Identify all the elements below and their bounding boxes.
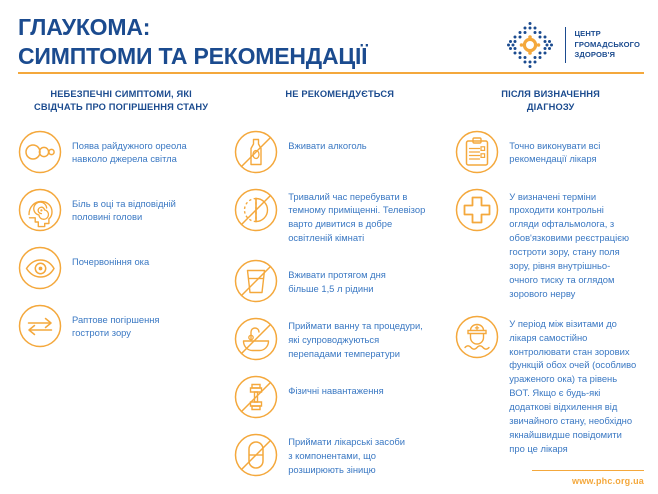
list-item: Фізичні навантаження [234,375,445,419]
list-item: Вживати протягом дня більше 1,5 л рідини [234,259,445,303]
column-heading-not-recommended: НЕ РЕКОМЕНДУЄТЬСЯ [234,88,445,116]
footer-divider [532,470,644,471]
no-pill-capsule-icon [234,433,278,477]
doctor-icon [455,315,499,359]
no-drinking-glass-icon [234,259,278,303]
website-url[interactable]: www.phc.org.ua [532,476,644,486]
list-item-label: Тривалий час перебувати в темному приміщ… [288,188,425,246]
phc-dot-circle-logo-icon [504,19,556,71]
list-item: Тривалий час перебувати в темному приміщ… [234,188,445,246]
page-footer: www.phc.org.ua [532,470,644,486]
clipboard-checklist-icon [455,130,499,174]
list-item-label: Біль в оці та відповідній половині голов… [72,188,176,225]
list-item: Точно виконувати всі рекомендації лікаря [455,130,646,174]
list-item: Біль в оці та відповідній половині голов… [18,188,224,232]
list-item-label: У період між візитами до лікаря самостій… [509,315,636,456]
list-item: Раптове погіршення гостроти зору [18,304,224,348]
head-pain-spiral-icon [18,188,62,232]
list-item-label: Приймати лікарські засоби з компонентами… [288,433,405,477]
list-item: Поява райдужного ореола навколо джерела … [18,130,224,174]
column-not-recommended: НЕ РЕКОМЕНДУЄТЬСЯ Вживати алкоголь [228,88,449,492]
list-item-label: Поява райдужного ореола навколо джерела … [72,130,187,167]
list-item: Приймати лікарські засоби з компонентами… [234,433,445,477]
column-after-diagnosis: ПІСЛЯ ВИЗНАЧЕННЯ ДІАГНОЗУ Точно виконува… [449,88,648,492]
list-item: Почервоніння ока [18,246,224,290]
list-item-label: Вживати протягом дня більше 1,5 л рідини [288,259,386,296]
list-item-label: Раптове погіршення гостроти зору [72,304,160,341]
list-item: У визначені терміни проходити контрольні… [455,188,646,301]
list-item-label: Фізичні навантаження [288,375,383,398]
page-title: ГЛАУКОМА: СИМПТОМИ ТА РЕКОМЕНДАЦІЇ [18,13,367,72]
page-header: ГЛАУКОМА: СИМПТОМИ ТА РЕКОМЕНДАЦІЇ [0,0,658,62]
list-item-label: Почервоніння ока [72,246,149,269]
column-heading-after-diagnosis: ПІСЛЯ ВИЗНАЧЕННЯ ДІАГНОЗУ [455,88,646,116]
column-heading-dangerous-symptoms: НЕБЕЗПЕЧНІ СИМПТОМИ, ЯКІ СВІДЧАТЬ ПРО ПО… [18,88,224,116]
medical-cross-icon [455,188,499,232]
no-dumbbell-icon [234,375,278,419]
list-item-label: Точно виконувати всі рекомендації лікаря [509,130,600,167]
no-bath-icon [234,317,278,361]
logo-text: ЦЕНТР ГРОМАДСЬКОГО ЗДОРОВ'Я [575,29,640,61]
rainbow-halo-circles-icon [18,130,62,174]
list-item: У період між візитами до лікаря самостій… [455,315,646,456]
no-alcohol-bottle-icon [234,130,278,174]
eye-icon [18,246,62,290]
no-dark-room-icon [234,188,278,232]
organization-logo: ЦЕНТР ГРОМАДСЬКОГО ЗДОРОВ'Я [504,19,640,71]
list-item-label: У визначені терміни проходити контрольні… [509,188,629,301]
content-columns: НЕБЕЗПЕЧНІ СИМПТОМИ, ЯКІ СВІДЧАТЬ ПРО ПО… [0,74,658,492]
column-dangerous-symptoms: НЕБЕЗПЕЧНІ СИМПТОМИ, ЯКІ СВІДЧАТЬ ПРО ПО… [10,88,228,492]
logo-divider [565,27,566,63]
two-arrows-icon [18,304,62,348]
list-item: Вживати алкоголь [234,130,445,174]
list-item: Приймати ванну та процедури, які супрово… [234,317,445,361]
list-item-label: Вживати алкоголь [288,130,366,153]
list-item-label: Приймати ванну та процедури, які супрово… [288,317,423,361]
